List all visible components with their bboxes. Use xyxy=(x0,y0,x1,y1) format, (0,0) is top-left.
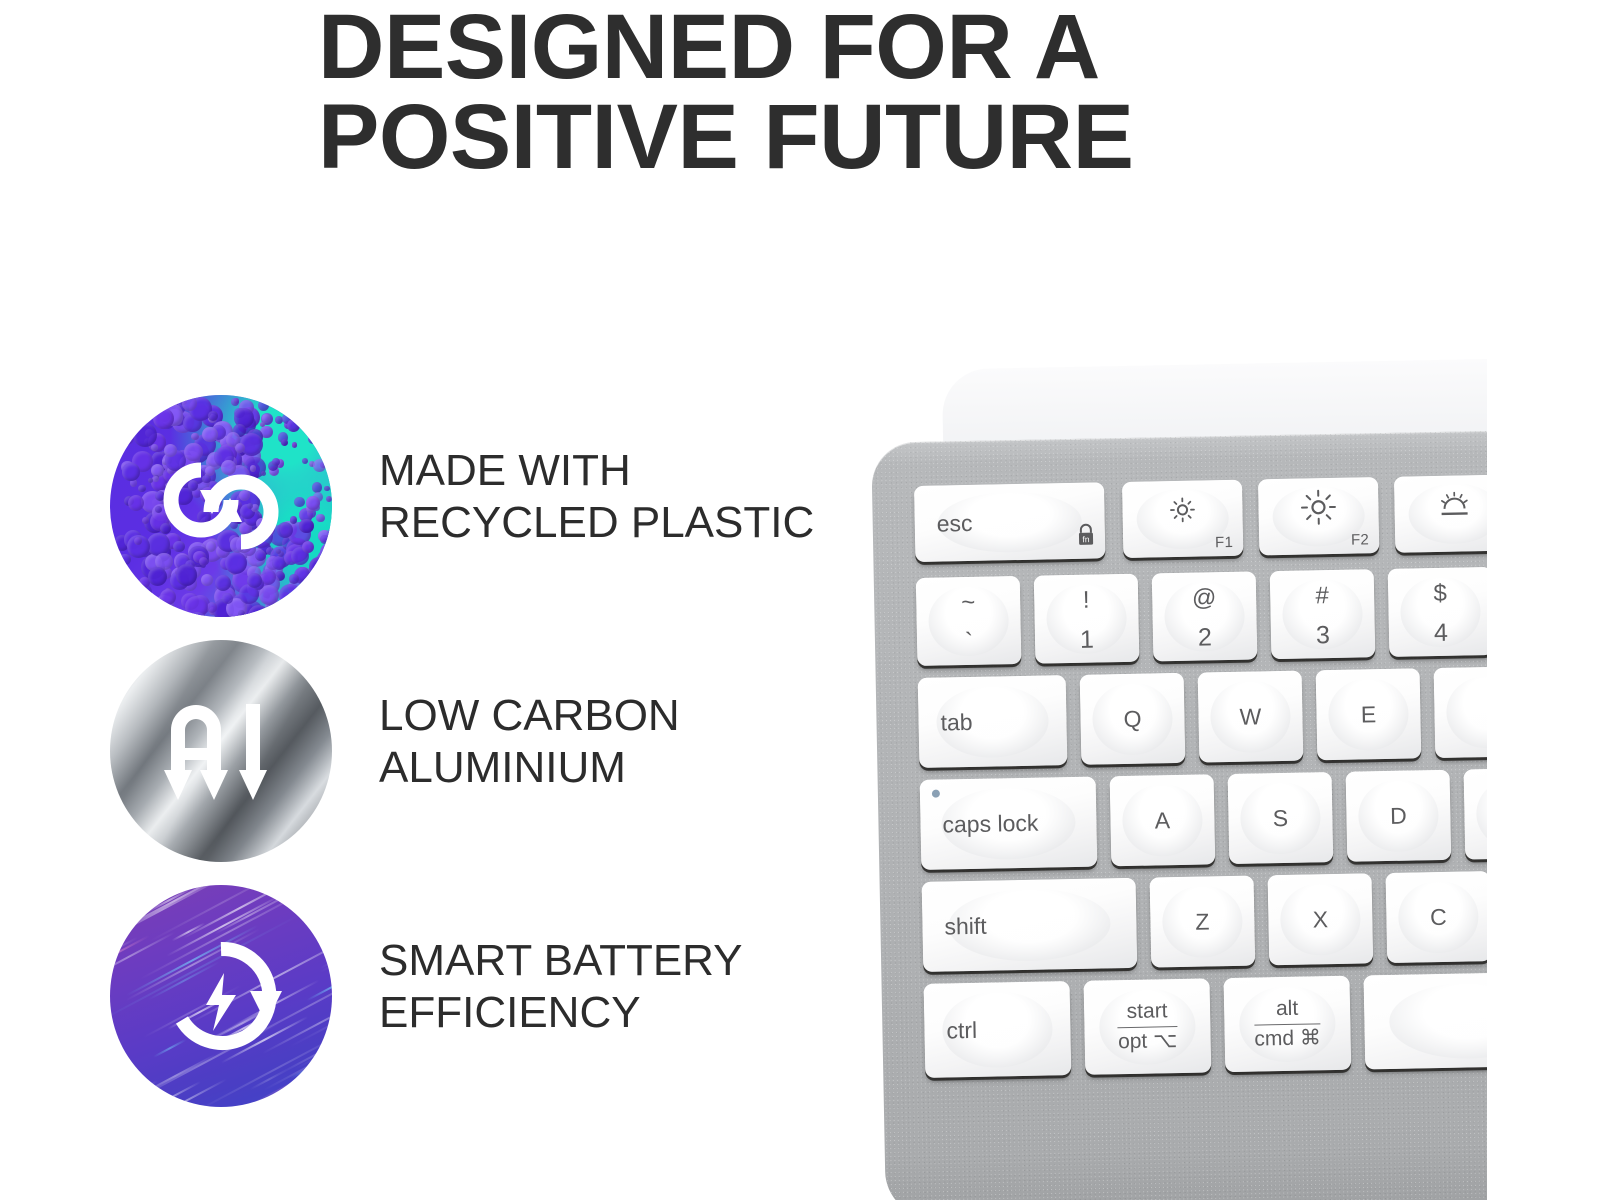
esc-key[interactable]: esc fn xyxy=(914,482,1105,562)
feature-label-line-1: MADE WITH xyxy=(379,445,849,497)
w-key[interactable]: W xyxy=(1198,671,1304,763)
feature-item-recycled-plastic: MADE WITH RECYCLED PLASTIC xyxy=(0,395,860,625)
legend-divider xyxy=(1254,1023,1321,1025)
caps-lock-key-label: caps lock xyxy=(942,809,1038,838)
alt-label: alt xyxy=(1254,997,1321,1023)
opt-label: opt ⌥ xyxy=(1118,1030,1178,1053)
ctrl-key[interactable]: ctrl xyxy=(924,981,1072,1078)
feature-item-smart-battery-efficiency: SMART BATTERY EFFICIENCY xyxy=(0,885,860,1115)
feature-list: MADE WITH RECYCLED PLASTIC xyxy=(0,0,860,1200)
feature-label-line-2: EFFICIENCY xyxy=(379,987,849,1039)
d-key-label: D xyxy=(1390,802,1407,829)
caps-lock-key[interactable]: caps lock xyxy=(920,777,1098,870)
legend-divider xyxy=(1118,1026,1177,1028)
battery-refresh-bolt-icon xyxy=(110,885,332,1107)
svg-text:fn: fn xyxy=(1082,534,1090,544)
two-key-upper: @ xyxy=(1192,584,1217,612)
smart-battery-efficiency-icon xyxy=(110,885,332,1107)
recycled-plastic-icon xyxy=(110,395,332,617)
feature-label-recycled-plastic: MADE WITH RECYCLED PLASTIC xyxy=(379,445,849,549)
z-key[interactable]: Z xyxy=(1150,876,1256,968)
f2-key[interactable]: F2 xyxy=(1258,477,1379,555)
cmd-label: cmd ⌘ xyxy=(1254,1027,1321,1050)
two-key[interactable]: @ 2 xyxy=(1152,571,1258,661)
s-key-label: S xyxy=(1273,804,1289,831)
feature-label-line-1: LOW CARBON xyxy=(379,690,849,742)
three-key-upper: # xyxy=(1315,582,1329,610)
feature-label-line-2: ALUMINIUM xyxy=(379,742,849,794)
a-key-label: A xyxy=(1155,807,1171,834)
f1-key[interactable]: F1 xyxy=(1122,480,1243,558)
q-key-label: Q xyxy=(1123,705,1141,732)
promo-banner: DESIGNED FOR A POSITIVE FUTURE xyxy=(0,0,1600,1200)
backtick-key-lower: ` xyxy=(965,628,974,657)
one-key[interactable]: ! 1 xyxy=(1034,574,1140,664)
ctrl-key-label: ctrl xyxy=(946,1016,977,1044)
feature-label-line-1: SMART BATTERY xyxy=(379,935,849,987)
four-key-lower: 4 xyxy=(1434,619,1448,648)
brightness-down-icon xyxy=(1167,494,1198,531)
alt-cmd-key[interactable]: alt cmd ⌘ xyxy=(1223,976,1351,1072)
fn-lock-icon: fn xyxy=(1076,523,1097,553)
f1-key-label: F1 xyxy=(1215,534,1233,551)
low-carbon-aluminium-icon xyxy=(110,640,332,862)
one-key-lower: 1 xyxy=(1080,626,1094,655)
e-key[interactable]: E xyxy=(1316,668,1422,760)
d-key[interactable]: D xyxy=(1346,770,1452,862)
f2-key-label: F2 xyxy=(1351,531,1369,548)
feature-item-low-carbon-aluminium: LOW CARBON ALUMINIUM xyxy=(0,640,860,870)
esc-key-label: esc xyxy=(936,509,972,537)
tab-key-label: tab xyxy=(940,708,972,736)
four-key-upper: $ xyxy=(1433,580,1447,608)
recycle-loop-icon xyxy=(110,395,332,617)
tab-key[interactable]: tab xyxy=(918,675,1068,768)
backtick-key-upper: ~ xyxy=(961,589,976,617)
aluminium-down-arrows-icon xyxy=(110,640,332,862)
keyboard-backlight-icon xyxy=(1437,491,1472,524)
c-key-label: C xyxy=(1430,903,1447,930)
keyboard-keys: esc fn xyxy=(871,431,1502,1200)
one-key-upper: ! xyxy=(1083,587,1090,615)
four-key[interactable]: $ 4 xyxy=(1388,567,1494,657)
caps-lock-led-indicator xyxy=(932,790,940,798)
shift-key-label: shift xyxy=(944,912,987,940)
three-key[interactable]: # 3 xyxy=(1270,569,1376,659)
image-right-crop-mask xyxy=(1487,0,1600,1200)
keyboard-aluminium-deck xyxy=(871,431,1502,1200)
backtick-key[interactable]: ~ ` xyxy=(916,576,1022,666)
x-key-label: X xyxy=(1312,906,1328,933)
feature-label-line-2: RECYCLED PLASTIC xyxy=(379,497,849,549)
w-key-label: W xyxy=(1239,703,1261,730)
start-label: start xyxy=(1117,1000,1177,1026)
two-key-lower: 2 xyxy=(1198,623,1212,652)
q-key[interactable]: Q xyxy=(1080,673,1186,765)
s-key[interactable]: S xyxy=(1228,772,1334,864)
e-key-label: E xyxy=(1361,701,1377,728)
start-opt-key[interactable]: start opt ⌥ xyxy=(1084,978,1212,1074)
shift-key[interactable]: shift xyxy=(922,878,1138,972)
c-key[interactable]: C xyxy=(1386,871,1492,963)
x-key[interactable]: X xyxy=(1268,873,1374,965)
feature-label-low-carbon-aluminium: LOW CARBON ALUMINIUM xyxy=(379,690,849,794)
z-key-label: Z xyxy=(1195,908,1210,935)
three-key-lower: 3 xyxy=(1316,621,1330,650)
alt-cmd-legend: alt cmd ⌘ xyxy=(1254,997,1322,1050)
brightness-up-icon xyxy=(1299,488,1338,533)
start-opt-legend: start opt ⌥ xyxy=(1117,1000,1177,1053)
feature-label-smart-battery-efficiency: SMART BATTERY EFFICIENCY xyxy=(379,935,849,1039)
a-key[interactable]: A xyxy=(1110,774,1216,866)
